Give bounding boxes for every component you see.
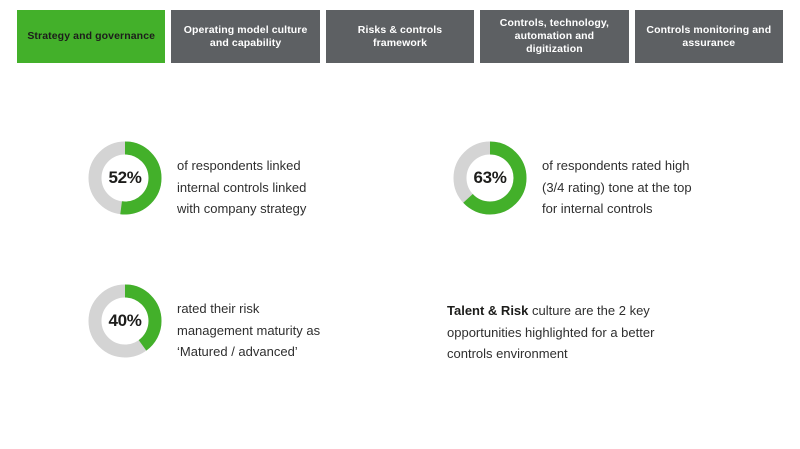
donut-chart-52: 52% [82, 135, 168, 221]
tab-controls-technology-automation-and-digitization[interactable]: Controls, technology, automation and dig… [480, 10, 628, 63]
tab-label: Controls, technology, automation and dig… [500, 17, 609, 56]
stat-description: of respondents rated high (3/4 rating) t… [542, 135, 692, 220]
stat-line: with company strategy [177, 201, 306, 216]
donut-value-label: 52% [82, 135, 168, 221]
stat-card-risk-maturity: 40% rated their risk management maturity… [82, 278, 422, 364]
stat-description: rated their risk management maturity as … [177, 278, 320, 363]
tab-label: Strategy and governance [27, 30, 155, 43]
stat-line: internal controls linked [177, 180, 306, 195]
donut-value-label: 63% [447, 135, 533, 221]
stat-description: of respondents linked internal controls … [177, 135, 306, 220]
stat-card-respondents-linked: 52% of respondents linked internal contr… [82, 135, 422, 221]
stat-line: culture are the 2 key [532, 303, 650, 318]
tab-risks-and-controls-framework[interactable]: Risks & controls framework [326, 10, 474, 63]
stat-line: opportunities highlighted for a better [447, 325, 654, 340]
donut-chart-63: 63% [447, 135, 533, 221]
stat-line: controls environment [447, 346, 568, 361]
donut-chart-40: 40% [82, 278, 168, 364]
stat-description: Talent & Risk culture are the 2 key oppo… [447, 278, 777, 365]
stats-grid: 52% of respondents linked internal contr… [0, 118, 800, 408]
tab-operating-model-culture-and-capability[interactable]: Operating model culture and capability [171, 10, 319, 63]
stat-line: (3/4 rating) tone at the top [542, 180, 692, 195]
donut-value-label: 40% [82, 278, 168, 364]
tab-label: Risks & controls framework [358, 24, 442, 50]
section-tab-bar: Strategy and governance Operating model … [17, 10, 783, 63]
tab-controls-monitoring-and-assurance[interactable]: Controls monitoring and assurance [635, 10, 783, 63]
stat-line: management maturity as [177, 323, 320, 338]
stat-card-tone-at-the-top: 63% of respondents rated high (3/4 ratin… [447, 135, 787, 221]
stat-line: rated their risk [177, 301, 259, 316]
stat-line: of respondents linked [177, 158, 301, 173]
stat-card-talent-and-risk-note: Talent & Risk culture are the 2 key oppo… [447, 278, 777, 365]
tab-label: Operating model culture and capability [184, 24, 308, 50]
stat-line: for internal controls [542, 201, 653, 216]
tab-label: Controls monitoring and assurance [646, 24, 771, 50]
stat-line: of respondents rated high [542, 158, 689, 173]
stat-emphasis: Talent & Risk [447, 303, 528, 318]
stat-line: ‘Matured / advanced’ [177, 344, 298, 359]
tab-strategy-and-governance[interactable]: Strategy and governance [17, 10, 165, 63]
